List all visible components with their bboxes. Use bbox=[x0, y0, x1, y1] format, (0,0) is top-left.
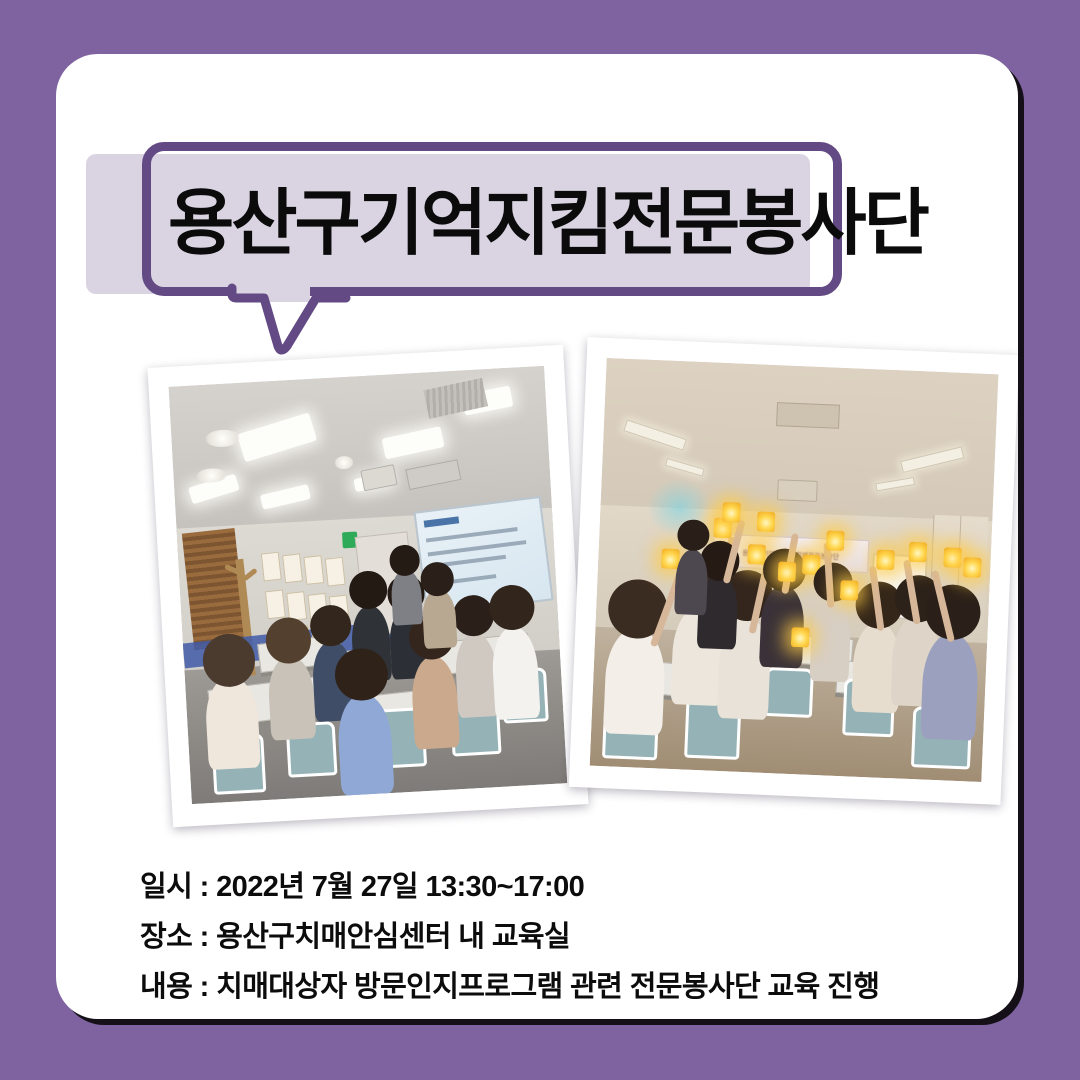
page-title: 용산구기억지킴전문봉사단 bbox=[168, 176, 828, 272]
poster-canvas: 용산구기억지킴전문봉사단 bbox=[0, 0, 1080, 1080]
content-card: 용산구기억지킴전문봉사단 bbox=[56, 54, 1018, 1019]
detail-date: 일시 : 2022년 7월 27일 13:30~17:00 bbox=[140, 862, 1018, 912]
title-section: 용산구기억지킴전문봉사단 bbox=[56, 54, 1018, 354]
detail-place: 장소 : 용산구치매안심센터 내 교육실 bbox=[140, 912, 1018, 962]
event-details: 일시 : 2022년 7월 27일 13:30~17:00 장소 : 용산구치매… bbox=[140, 862, 1018, 1019]
detail-staff: 담당 : 류은혜, 김도연, 오명옥 bbox=[140, 1012, 1018, 1019]
photo-left-image bbox=[169, 366, 568, 804]
photo-frame-left[interactable] bbox=[147, 345, 588, 828]
detail-content: 내용 : 치매대상자 방문인지프로그램 관련 전문봉사단 교육 진행 bbox=[140, 962, 1018, 1012]
photo-frame-right[interactable]: 용산구 기억지킴이 치매전문봉사단 bbox=[569, 337, 1018, 805]
photo-gallery: 용산구 기억지킴이 치매전문봉사단 bbox=[56, 334, 1018, 854]
photo-right-image: 용산구 기억지킴이 치매전문봉사단 bbox=[590, 358, 999, 782]
